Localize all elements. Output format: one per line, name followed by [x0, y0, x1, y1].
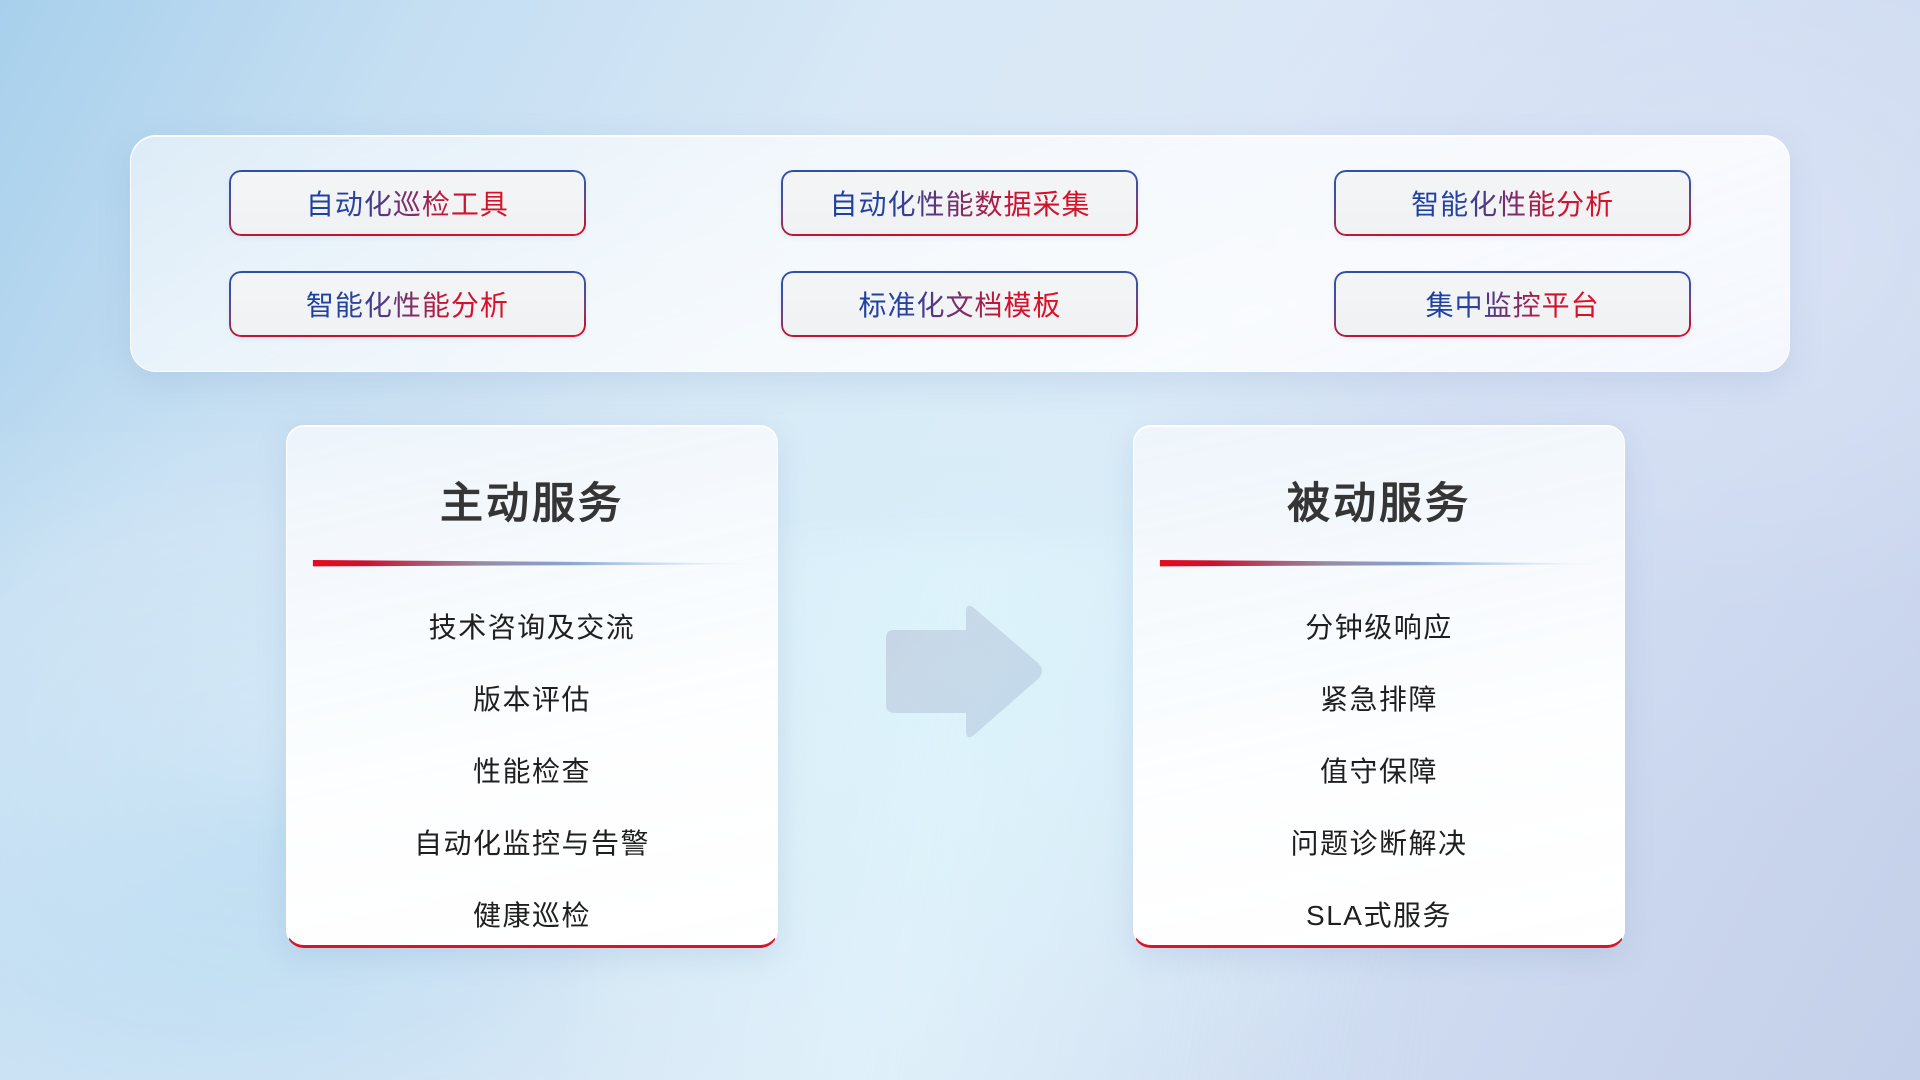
service-card-proactive: 主动服务 技术咨询及交流 版本评估 性能检查 自动化监控与告警 健康巡检	[286, 425, 778, 948]
arrow-right-icon	[878, 600, 1044, 745]
capability-chip-intelligent-performance-analysis-2[interactable]: 智能化性能分析	[229, 271, 586, 337]
card-title: 被动服务	[1134, 469, 1624, 531]
capability-chip-automated-performance-data-collection[interactable]: 自动化性能数据采集	[781, 170, 1138, 236]
service-item-list: 分钟级响应 紧急排障 值守保障 问题诊断解决 SLA式服务	[1134, 592, 1624, 948]
list-item: 自动化监控与告警	[287, 808, 777, 880]
list-item: 紧急排障	[1134, 664, 1624, 736]
card-divider	[287, 557, 777, 569]
list-item: 问题诊断解决	[1134, 808, 1624, 880]
service-item-list: 技术咨询及交流 版本评估 性能检查 自动化监控与告警 健康巡检	[287, 592, 777, 948]
capability-chip-automated-inspection-tool[interactable]: 自动化巡检工具	[229, 170, 586, 236]
chip-label: 智能化性能分析	[306, 284, 509, 324]
card-title: 主动服务	[287, 469, 777, 531]
list-item: 分钟级响应	[1134, 592, 1624, 664]
chip-label: 标准化文档模板	[858, 284, 1061, 324]
capability-chip-grid: 自动化巡检工具 自动化性能数据采集 智能化性能分析 智能化性能分析 标准化文档模…	[131, 170, 1789, 337]
list-item: SLA式服务	[1134, 880, 1624, 948]
list-item: 技术咨询及交流	[287, 592, 777, 664]
chip-label: 自动化巡检工具	[306, 183, 509, 223]
capability-tools-panel: 自动化巡检工具 自动化性能数据采集 智能化性能分析 智能化性能分析 标准化文档模…	[130, 135, 1790, 372]
gradient-rule-icon	[1134, 557, 1624, 569]
capability-chip-centralized-monitoring-platform[interactable]: 集中监控平台	[1334, 271, 1691, 337]
chip-label: 智能化性能分析	[1411, 183, 1614, 223]
list-item: 性能检查	[287, 736, 777, 808]
capability-chip-standardized-document-template[interactable]: 标准化文档模板	[781, 271, 1138, 337]
gradient-rule-icon	[287, 557, 777, 569]
list-item: 版本评估	[287, 664, 777, 736]
chip-label: 集中监控平台	[1426, 284, 1600, 324]
list-item: 值守保障	[1134, 736, 1624, 808]
chip-label: 自动化性能数据采集	[829, 183, 1090, 223]
list-item: 健康巡检	[287, 880, 777, 948]
capability-chip-intelligent-performance-analysis-1[interactable]: 智能化性能分析	[1334, 170, 1691, 236]
card-divider	[1134, 557, 1624, 569]
service-card-reactive: 被动服务 分钟级响应 紧急排障 值守保障 问题诊断解决 SLA式服务	[1133, 425, 1625, 948]
